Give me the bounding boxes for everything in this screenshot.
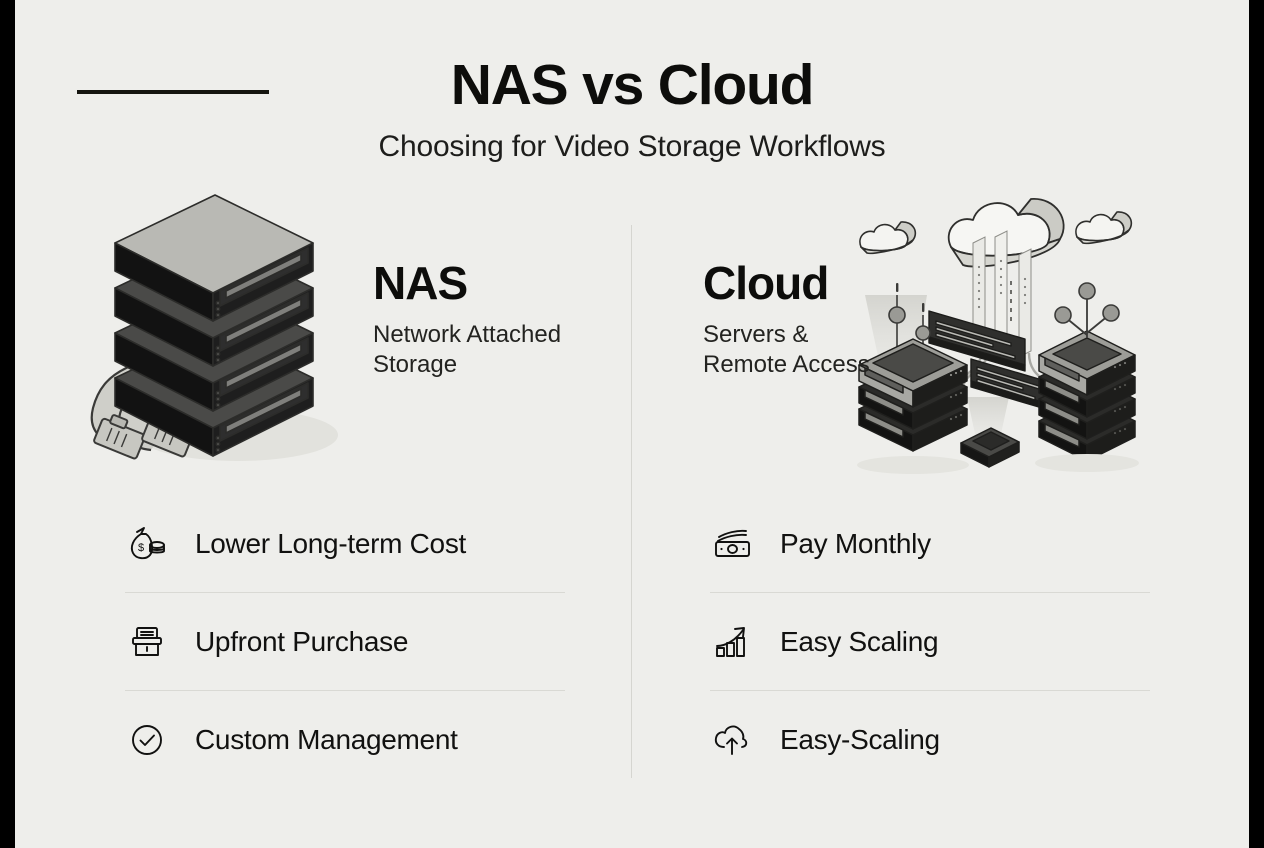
feature-label: Lower Long-term Cost — [195, 528, 466, 560]
banknote-icon — [710, 522, 754, 566]
check-circle-icon — [125, 718, 169, 762]
feature-label: Easy Scaling — [780, 626, 938, 658]
cloud-upload-icon — [710, 718, 754, 762]
nas-title: NAS — [373, 260, 561, 306]
cloud-subtitle: Servers & Remote Access — [703, 320, 870, 380]
page-title: NAS vs Cloud — [15, 56, 1249, 116]
infographic-canvas: NAS vs Cloud Choosing for Video Storage … — [15, 0, 1249, 848]
feature-row[interactable]: Easy Scaling — [710, 593, 1150, 691]
left-border-bar — [0, 0, 15, 848]
feature-label: Pay Monthly — [780, 528, 931, 560]
right-border-bar — [1249, 0, 1264, 848]
feature-row[interactable]: Upfront Purchase — [125, 593, 565, 691]
page-subtitle: Choosing for Video Storage Workflows — [15, 130, 1249, 164]
cloud-heading-block: Cloud Servers & Remote Access — [703, 260, 870, 380]
growth-chart-icon — [710, 620, 754, 664]
nas-feature-list: $ Lower Long-term Cost — [125, 495, 565, 788]
archive-box-icon — [125, 620, 169, 664]
cloud-column: Cloud Servers & Remote Access Pay Monthl… — [648, 170, 1208, 790]
nas-heading-block: NAS Network Attached Storage — [373, 260, 561, 380]
feature-label: Easy-Scaling — [780, 724, 940, 756]
nas-column: NAS Network Attached Storage $ Lower Lon… — [63, 170, 623, 790]
nas-server-stack-illustration — [63, 170, 363, 470]
feature-row[interactable]: $ Lower Long-term Cost — [125, 495, 565, 593]
feature-row[interactable]: Pay Monthly — [710, 495, 1150, 593]
feature-label: Custom Management — [195, 724, 458, 756]
feature-row[interactable]: Easy-Scaling — [710, 691, 1150, 788]
cloud-feature-list: Pay Monthly Easy Scaling — [710, 495, 1150, 788]
cloud-title: Cloud — [703, 260, 870, 306]
column-divider — [631, 225, 632, 778]
nas-subtitle: Network Attached Storage — [373, 320, 561, 380]
feature-label: Upfront Purchase — [195, 626, 408, 658]
cloud-servers-illustration — [843, 175, 1153, 475]
feature-row[interactable]: Custom Management — [125, 691, 565, 788]
svg-text:$: $ — [138, 542, 144, 554]
money-bag-icon: $ — [125, 522, 169, 566]
